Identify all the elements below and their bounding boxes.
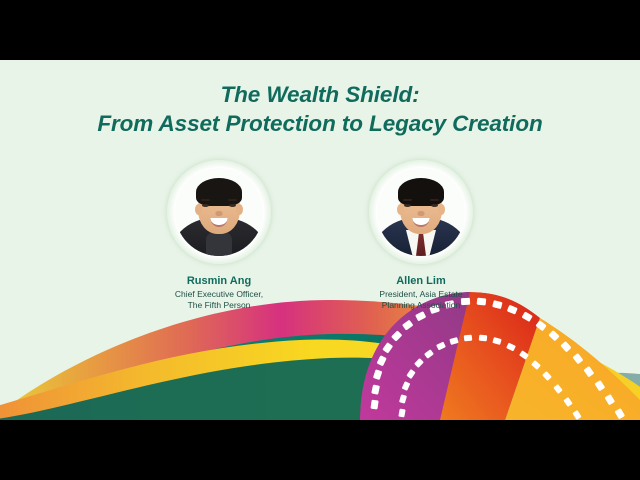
speaker-name-2: Allen Lim (396, 274, 446, 288)
avatar-ring-2 (369, 160, 473, 264)
title-line-2: From Asset Protection to Legacy Creation (0, 109, 640, 138)
avatar-ring-1 (167, 160, 271, 264)
letterbox-bottom (0, 420, 640, 480)
speaker-portrait-icon-1 (175, 168, 263, 256)
speaker-name-1: Rusmin Ang (187, 274, 251, 288)
speaker-card-2: Allen Lim President, Asia Estate Plannin… (346, 160, 496, 311)
slide-stage: The Wealth Shield: From Asset Protection… (0, 0, 640, 480)
speaker-portrait-icon-2 (377, 168, 465, 256)
speaker-role-1: Chief Executive Officer, The Fifth Perso… (175, 289, 263, 311)
title-line-1: The Wealth Shield: (0, 80, 640, 109)
speaker-role-2: President, Asia Estate Planning Associat… (379, 289, 462, 311)
letterbox-top (0, 0, 640, 60)
presentation-slide: The Wealth Shield: From Asset Protection… (0, 60, 640, 420)
speaker-card-1: Rusmin Ang Chief Executive Officer, The … (144, 160, 294, 311)
speaker-list: Rusmin Ang Chief Executive Officer, The … (0, 160, 640, 311)
page-title: The Wealth Shield: From Asset Protection… (0, 80, 640, 138)
